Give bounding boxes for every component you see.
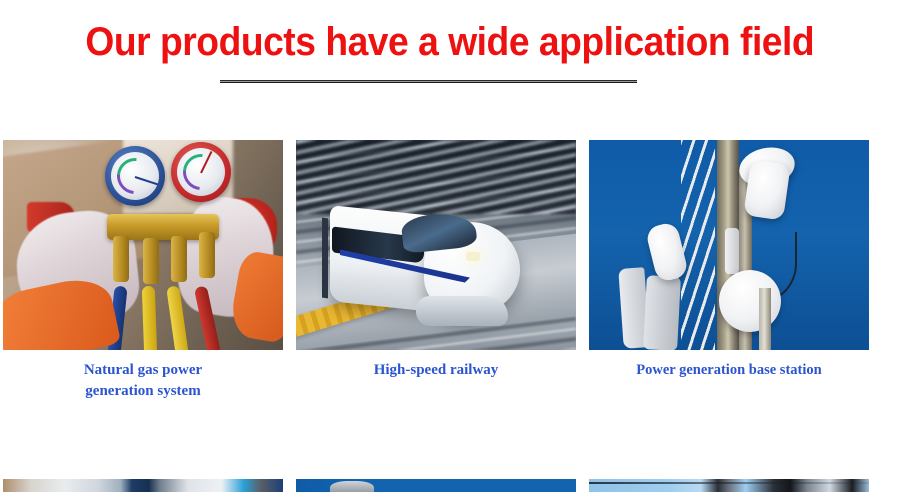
manifold-port-4-shape: [199, 232, 215, 278]
industrial-equipment-photo[interactable]: [3, 479, 283, 492]
microwave-dish-upper-shape: [743, 159, 790, 220]
tile-power-lines[interactable]: [589, 479, 869, 492]
high-pressure-gauge-shape: [171, 142, 231, 202]
page-title-text: Our products have a wide application fie…: [86, 18, 815, 66]
application-field-grid: Natural gas power generation system High…: [3, 140, 897, 492]
tile-caption-base-station: Power generation base station: [589, 360, 869, 381]
tower-ladder-shape: [681, 140, 715, 350]
blue-sky-tank-photo[interactable]: [296, 479, 576, 492]
low-pressure-gauge-shape: [105, 146, 165, 206]
tile-power-generation-base-station[interactable]: Power generation base station: [589, 140, 869, 402]
train-nose-skirt-shape: [416, 296, 508, 326]
manifold-port-1-shape: [113, 236, 129, 282]
power-lines-photo[interactable]: [589, 479, 869, 492]
panel-antenna-mid-shape: [643, 275, 681, 350]
tile-row-secondary: [3, 479, 897, 492]
yellow-hose-shape: [142, 286, 157, 350]
tile-industrial-equipment[interactable]: [3, 479, 283, 492]
manifold-port-3-shape: [171, 236, 187, 282]
telecom-tower-photo[interactable]: [589, 140, 869, 350]
train-door-shape: [322, 218, 328, 299]
refrigerant-manifold-gauges-photo[interactable]: [3, 140, 283, 350]
title-underline-rule: [220, 80, 637, 83]
tile-high-speed-railway[interactable]: High-speed railway: [296, 140, 576, 402]
tower-support-pole-shape: [759, 288, 771, 350]
tile-natural-gas-power-generation-system[interactable]: Natural gas power generation system: [3, 140, 283, 402]
tile-blue-sky-tank[interactable]: [296, 479, 576, 492]
tile-caption-high-speed-railway: High-speed railway: [296, 360, 576, 381]
train-headlight-shape: [466, 252, 480, 261]
station-ceiling-shape: [296, 140, 576, 214]
high-speed-train-photo[interactable]: [296, 140, 576, 350]
tile-row-primary: Natural gas power generation system High…: [3, 140, 897, 402]
page-title: Our products have a wide application fie…: [0, 18, 900, 66]
tile-caption-natural-gas: Natural gas power generation system: [3, 360, 283, 402]
manifold-port-2-shape: [143, 238, 159, 284]
antenna-box-shape: [725, 228, 739, 274]
